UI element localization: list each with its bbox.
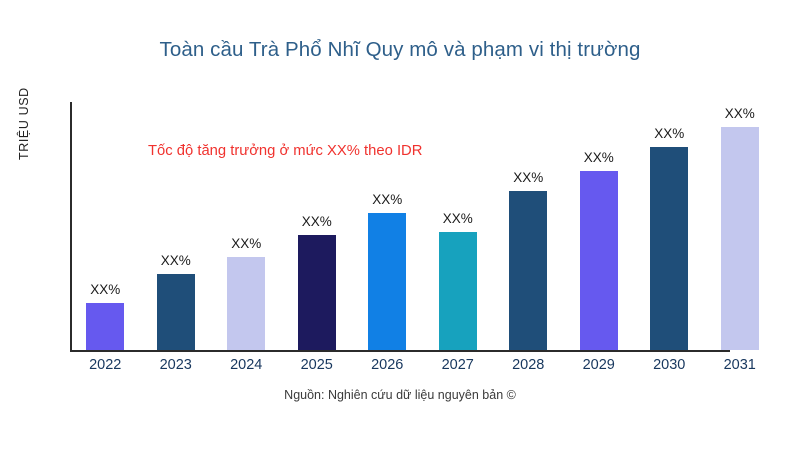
x-tick-2027: 2027: [428, 357, 488, 373]
bar-value-label-2026: XX%: [372, 192, 402, 207]
bar-value-label-2027: XX%: [443, 211, 473, 226]
bar-2026[interactable]: [368, 213, 406, 350]
x-tick-2029: 2029: [569, 357, 629, 373]
bar-2029[interactable]: [580, 171, 618, 350]
bar-value-label-2023: XX%: [161, 253, 191, 268]
growth-rate-annotation: Tốc độ tăng trưởng ở mức XX% theo IDR: [148, 143, 422, 159]
x-tick-2026: 2026: [357, 357, 417, 373]
x-tick-2025: 2025: [287, 357, 347, 373]
bar-2030[interactable]: [650, 147, 688, 350]
x-tick-2022: 2022: [75, 357, 135, 373]
x-tick-2024: 2024: [216, 357, 276, 373]
bar-value-label-2022: XX%: [90, 282, 120, 297]
bar-2025[interactable]: [298, 235, 336, 350]
y-axis-line: [70, 102, 72, 351]
x-tick-2031: 2031: [710, 357, 770, 373]
bar-2023[interactable]: [157, 274, 195, 350]
chart-container: Toàn cầu Trà Phổ Nhĩ Quy mô và phạm vi t…: [0, 0, 800, 450]
bar-2022[interactable]: [86, 303, 124, 350]
bar-value-label-2024: XX%: [231, 236, 261, 251]
bar-value-label-2030: XX%: [654, 126, 684, 141]
x-axis-line: [70, 350, 730, 352]
bar-2028[interactable]: [509, 191, 547, 350]
bar-value-label-2029: XX%: [584, 150, 614, 165]
source-note: Nguồn: Nghiên cứu dữ liệu nguyên bản ©: [0, 388, 800, 402]
x-tick-2028: 2028: [498, 357, 558, 373]
bar-2031[interactable]: [721, 127, 759, 350]
bar-value-label-2028: XX%: [513, 170, 543, 185]
x-tick-2030: 2030: [639, 357, 699, 373]
plot-area: Tốc độ tăng trưởng ở mức XX% theo IDR XX…: [0, 0, 800, 450]
bar-2024[interactable]: [227, 257, 265, 350]
bar-value-label-2025: XX%: [302, 214, 332, 229]
bar-2027[interactable]: [439, 232, 477, 350]
bar-value-label-2031: XX%: [725, 106, 755, 121]
x-tick-2023: 2023: [146, 357, 206, 373]
